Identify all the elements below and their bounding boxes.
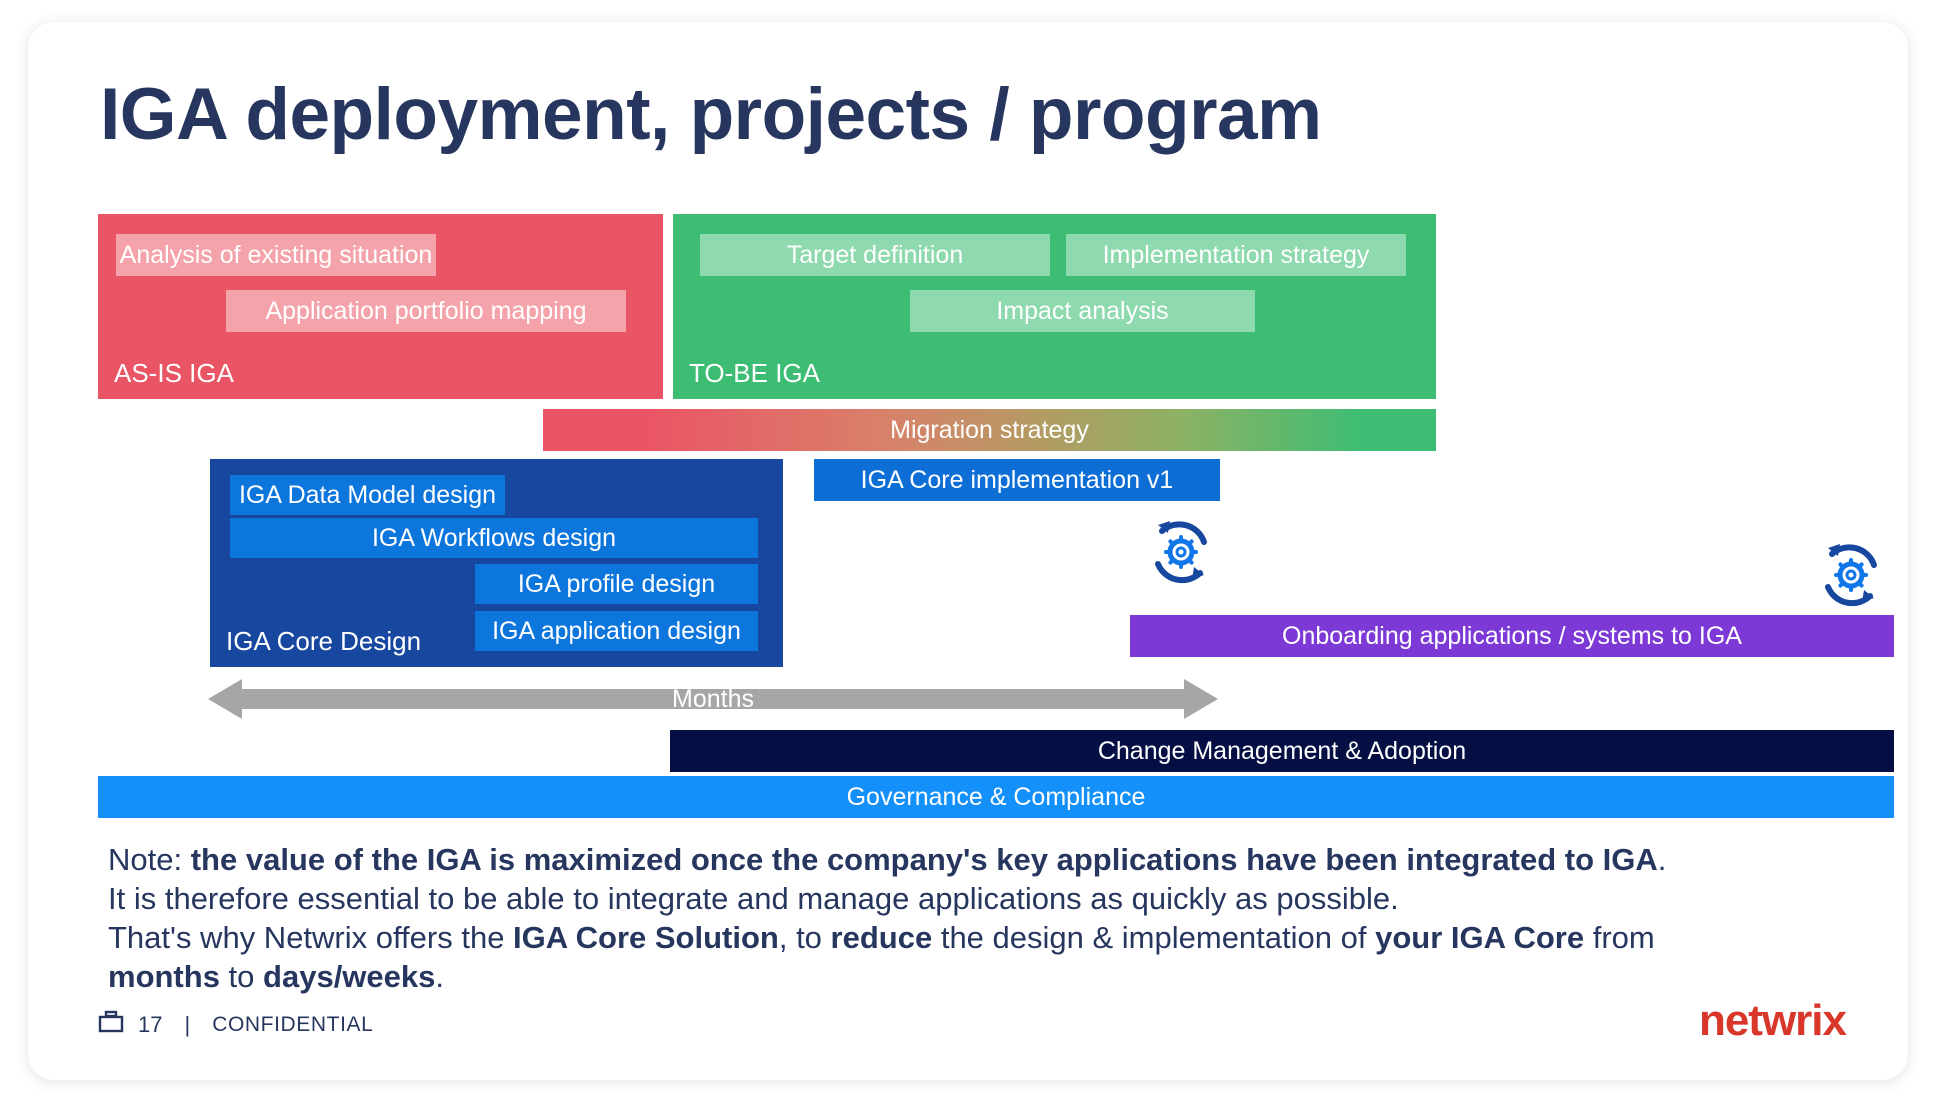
- note-line-1: Note: the value of the IGA is maximized …: [108, 840, 1888, 879]
- tobe-block-label: TO-BE IGA: [689, 358, 820, 389]
- cycle-gear-icon: [1808, 532, 1894, 618]
- netwrix-logo: netwrix: [1699, 996, 1846, 1046]
- months-duration-label-wrap: Months: [208, 677, 1218, 721]
- asis-block-label: AS-IS IGA: [114, 358, 234, 389]
- tobe-task-label: Implementation strategy: [1103, 241, 1370, 270]
- note-text: Note: the value of the IGA is maximized …: [108, 840, 1888, 996]
- governance-compliance-label: Governance & Compliance: [847, 783, 1146, 812]
- core-task-label: IGA profile design: [518, 570, 715, 599]
- asis-task-label: Analysis of existing situation: [120, 241, 433, 270]
- iga-core-design-block: IGA Data Model design IGA Workflows desi…: [210, 459, 783, 667]
- migration-strategy-bar: Migration strategy: [543, 409, 1436, 451]
- footer: 17 | CONFIDENTIAL: [98, 1010, 373, 1040]
- footer-divider: |: [176, 1012, 198, 1038]
- tobe-iga-block: Target definition Implementation strateg…: [673, 214, 1436, 399]
- core-task-iga-profile-design: IGA profile design: [475, 564, 758, 604]
- core-task-iga-workflows-design: IGA Workflows design: [230, 518, 758, 558]
- onboarding-applications-bar: Onboarding applications / systems to IGA: [1130, 615, 1894, 657]
- tobe-task-label: Target definition: [787, 241, 964, 270]
- note-line-2: It is therefore essential to be able to …: [108, 879, 1888, 918]
- core-task-label: IGA Data Model design: [239, 481, 496, 510]
- briefcase-icon: [98, 1010, 124, 1040]
- core-task-iga-data-model-design: IGA Data Model design: [230, 475, 505, 515]
- core-task-label: IGA application design: [492, 617, 741, 646]
- governance-compliance-bar: Governance & Compliance: [98, 776, 1894, 818]
- page-title: IGA deployment, projects / program: [100, 74, 1322, 156]
- note-line-4: months to days/weeks.: [108, 957, 1888, 996]
- asis-task-application-portfolio-mapping: Application portfolio mapping: [226, 290, 626, 332]
- change-management-label: Change Management & Adoption: [1098, 737, 1466, 766]
- migration-strategy-label: Migration strategy: [890, 416, 1089, 445]
- confidentiality-label: CONFIDENTIAL: [212, 1013, 373, 1037]
- iga-core-implementation-label: IGA Core implementation v1: [861, 466, 1174, 495]
- core-design-block-label: IGA Core Design: [226, 626, 421, 657]
- asis-iga-block: Analysis of existing situation Applicati…: [98, 214, 663, 399]
- iga-core-implementation-bar: IGA Core implementation v1: [814, 459, 1220, 501]
- onboarding-label: Onboarding applications / systems to IGA: [1282, 622, 1742, 651]
- tobe-task-label: Impact analysis: [996, 297, 1168, 326]
- tobe-task-impact-analysis: Impact analysis: [910, 290, 1255, 332]
- asis-task-label: Application portfolio mapping: [265, 297, 586, 326]
- core-task-iga-application-design: IGA application design: [475, 611, 758, 651]
- months-duration-label: Months: [672, 685, 754, 714]
- note-line-3: That's why Netwrix offers the IGA Core S…: [108, 918, 1888, 957]
- tobe-task-implementation-strategy: Implementation strategy: [1066, 234, 1406, 276]
- cycle-gear-icon: [1138, 509, 1224, 595]
- page-number: 17: [138, 1012, 162, 1038]
- slide-card: IGA deployment, projects / program Analy…: [28, 22, 1908, 1080]
- change-management-bar: Change Management & Adoption: [670, 730, 1894, 772]
- asis-task-analysis-of-existing-situation: Analysis of existing situation: [116, 234, 436, 276]
- tobe-task-target-definition: Target definition: [700, 234, 1050, 276]
- core-task-label: IGA Workflows design: [372, 524, 616, 553]
